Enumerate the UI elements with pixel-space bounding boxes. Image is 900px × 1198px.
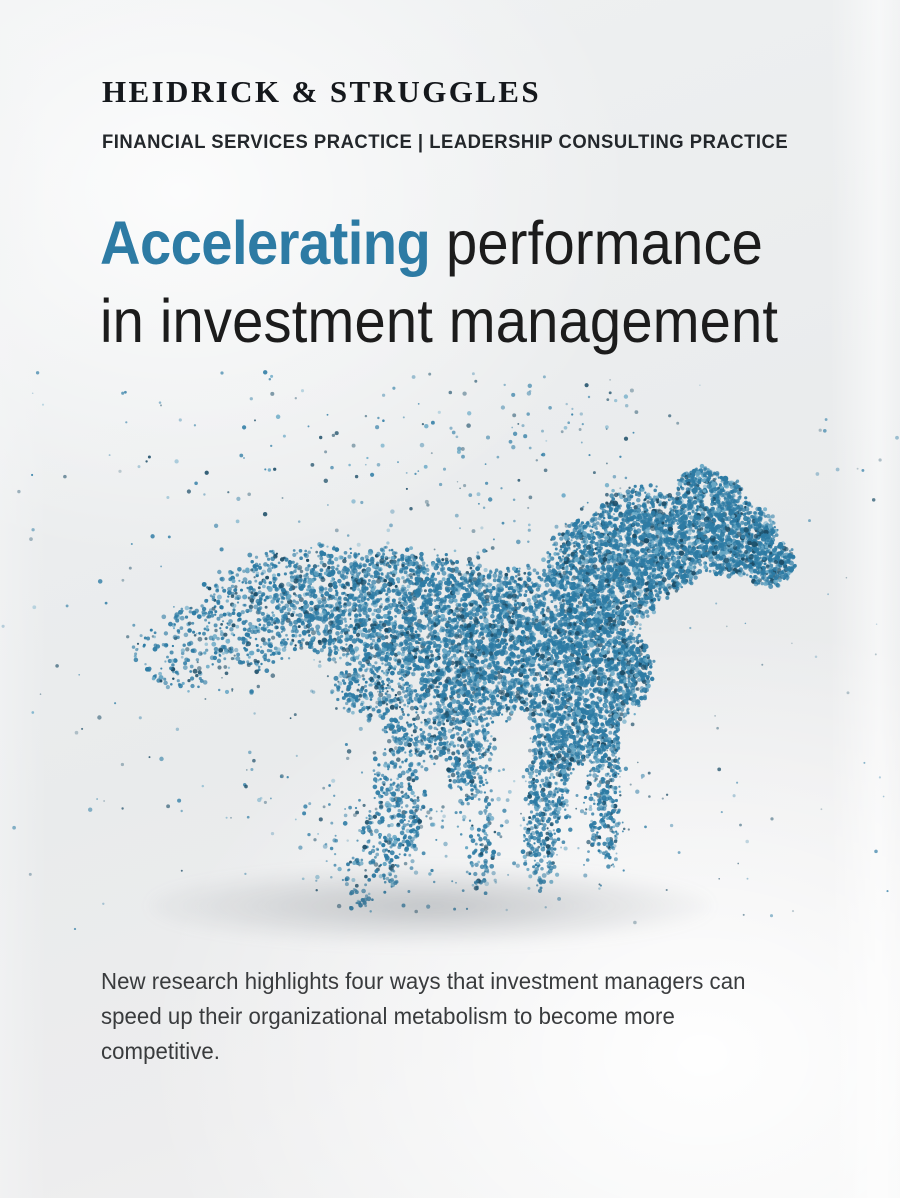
cover-deck-text: New research highlights four ways that i… — [101, 964, 767, 1069]
brand-logo: HEIDRICK & STRUGGLES — [102, 76, 832, 109]
report-cover: HEIDRICK & STRUGGLES FINANCIAL SERVICES … — [0, 0, 900, 1198]
cover-header: HEIDRICK & STRUGGLES FINANCIAL SERVICES … — [102, 76, 832, 154]
title-line-1: Accelerating performance — [100, 204, 781, 282]
title-line-2: in investment management — [100, 282, 781, 360]
practice-line: FINANCIAL SERVICES PRACTICE | LEADERSHIP… — [102, 131, 792, 154]
particle-horse-illustration — [0, 370, 900, 930]
title-line-1-rest: performance — [430, 209, 763, 277]
particle-dots — [2, 370, 899, 930]
title-accent-word: Accelerating — [100, 209, 430, 277]
cover-title: Accelerating performance in investment m… — [100, 204, 840, 360]
particle-horse-svg — [0, 370, 900, 930]
